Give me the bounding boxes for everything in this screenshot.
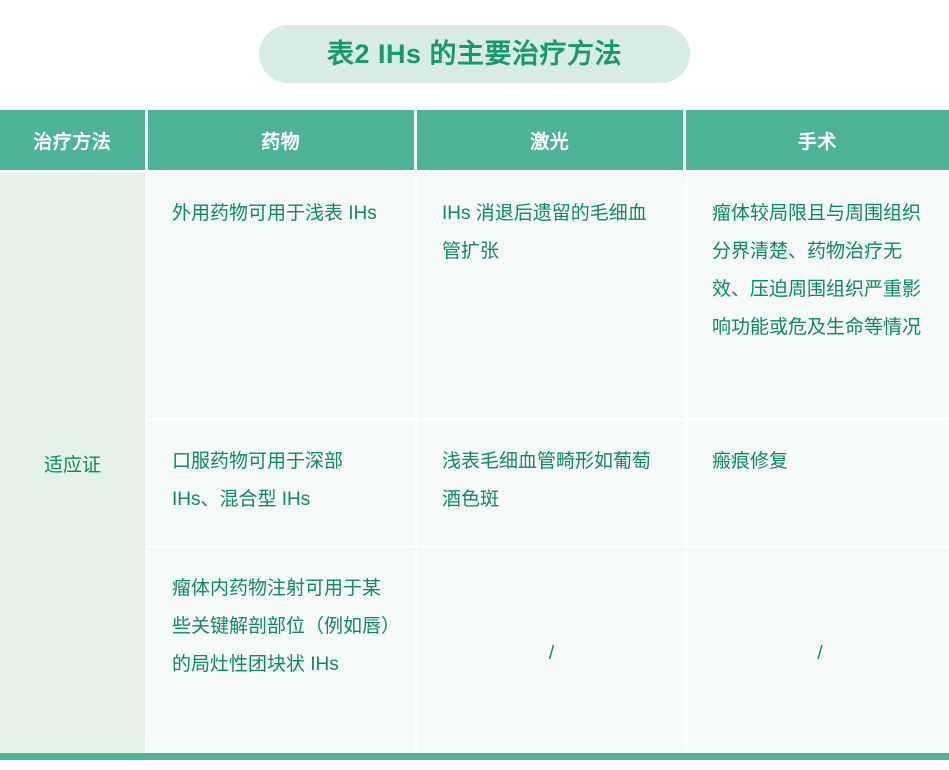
table-row: 外用药物可用于浅表 IHs IHs 消退后遗留的毛细血管扩张 瘤体较局限且与周围… bbox=[148, 173, 949, 418]
column-header-surgery: 手术 bbox=[686, 110, 949, 170]
table-figure-page: { "title": { "text": "表2 IHs 的主要治疗方法" },… bbox=[0, 0, 949, 770]
table-header-row: 治疗方法 药物 激光 手术 bbox=[0, 110, 949, 170]
table-row: 瘤体内药物注射可用于某些关键解剖部位（例如唇）的局灶性团块状 IHs / / bbox=[148, 548, 949, 759]
cell-laser-3: / bbox=[418, 548, 685, 759]
cell-drug-3: 瘤体内药物注射可用于某些关键解剖部位（例如唇）的局灶性团块状 IHs bbox=[148, 548, 415, 759]
column-header-laser: 激光 bbox=[417, 110, 683, 170]
cell-laser-1: IHs 消退后遗留的毛细血管扩张 bbox=[418, 173, 685, 418]
treatment-methods-table: 治疗方法 药物 激光 手术 适应证 外用药物可用于浅表 IHs IHs 消退后遗… bbox=[0, 110, 949, 759]
column-header-treatment-method: 治疗方法 bbox=[0, 110, 145, 170]
table-title-banner: 表2 IHs 的主要治疗方法 bbox=[0, 25, 949, 83]
cell-surgery-2: 瘢痕修复 bbox=[688, 421, 949, 545]
row-group-label-cell: 适应证 bbox=[0, 173, 145, 759]
title-pill: 表2 IHs 的主要治疗方法 bbox=[259, 25, 690, 83]
table-row: 口服药物可用于深部 IHs、混合型 IHs 浅表毛细血管畸形如葡萄酒色斑 瘢痕修… bbox=[148, 421, 949, 545]
cell-surgery-3: / bbox=[688, 548, 949, 759]
column-header-drug: 药物 bbox=[148, 110, 414, 170]
table-bottom-rule bbox=[0, 753, 949, 760]
table-body: 适应证 外用药物可用于浅表 IHs IHs 消退后遗留的毛细血管扩张 瘤体较局限… bbox=[0, 173, 949, 759]
cell-surgery-1: 瘤体较局限且与周围组织分界清楚、药物治疗无效、压迫周围组织严重影响功能或危及生命… bbox=[688, 173, 949, 418]
row-group-label: 适应证 bbox=[44, 451, 101, 481]
cell-laser-2: 浅表毛细血管畸形如葡萄酒色斑 bbox=[418, 421, 685, 545]
table-rows-area: 外用药物可用于浅表 IHs IHs 消退后遗留的毛细血管扩张 瘤体较局限且与周围… bbox=[148, 173, 949, 759]
cell-drug-1: 外用药物可用于浅表 IHs bbox=[148, 173, 415, 418]
cell-drug-2: 口服药物可用于深部 IHs、混合型 IHs bbox=[148, 421, 415, 545]
page-title: 表2 IHs 的主要治疗方法 bbox=[327, 41, 622, 68]
